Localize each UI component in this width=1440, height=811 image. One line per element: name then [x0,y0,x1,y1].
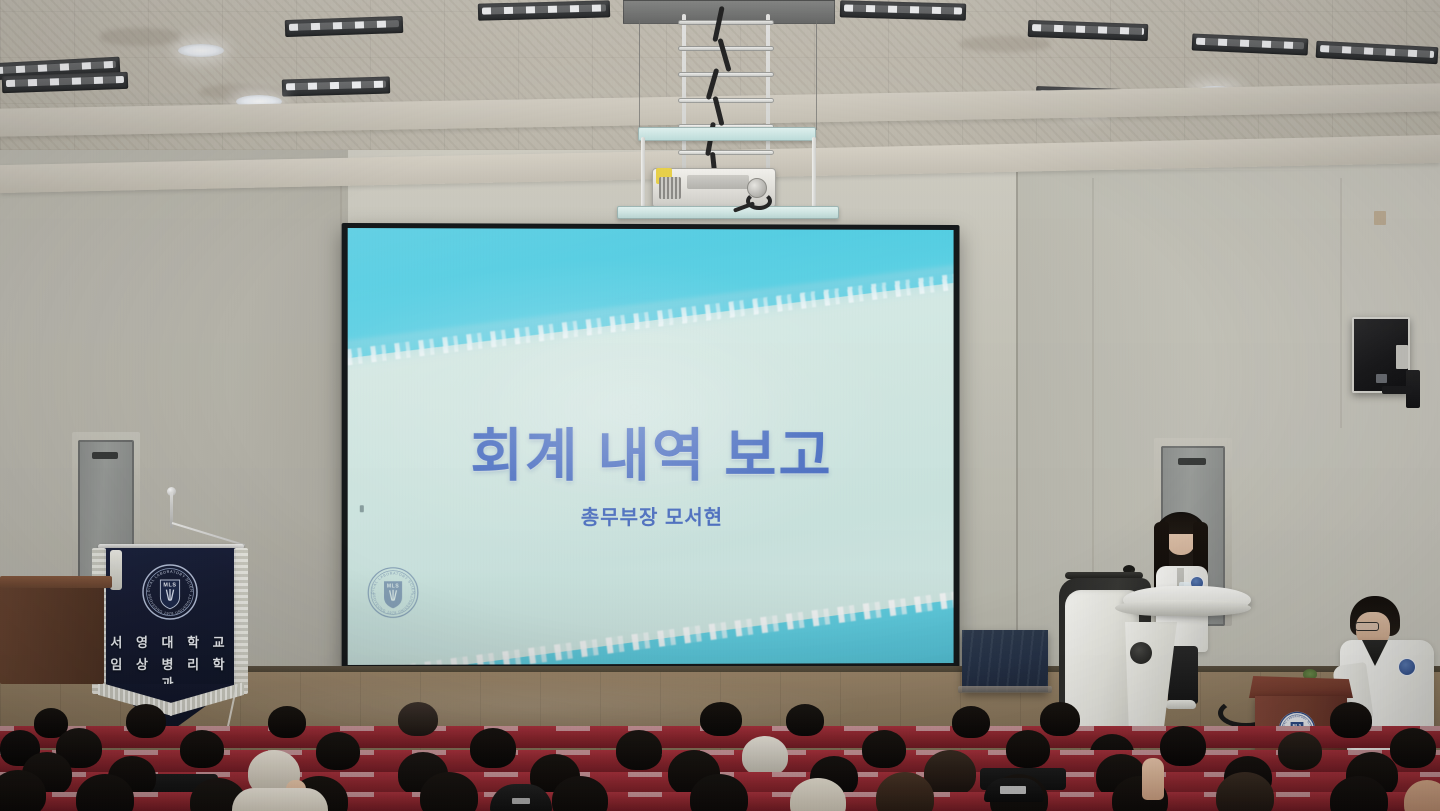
slide: 회계 내역 보고 총무부장 모서현 MEDICAL LABORATORY SCI… [348,228,954,665]
projector-upper-shelf [638,127,816,141]
rig-hanger-wire [639,20,640,130]
left-wooden-furniture [0,584,104,684]
pennant-body: MEDICAL LABORATORY SCIENCE SEOYEONG 1978… [104,548,236,684]
projector-cable-loop [746,192,772,210]
pennant-fringe-right [234,548,248,694]
audience-head [742,736,788,776]
svg-text:MLS: MLS [387,583,399,589]
glasses-icon [1355,622,1379,631]
audience-head [126,704,166,738]
audience-head [1040,702,1080,736]
audience-head [786,704,824,736]
projection-screen: 회계 내역 보고 총무부장 모서현 MEDICAL LABORATORY SCI… [342,223,960,673]
audience-head [862,730,906,768]
audience-head [952,706,990,738]
audience-head [700,702,742,736]
audience-head [1160,726,1206,766]
ceiling-strip-light [840,0,966,20]
right-door-closer [1178,458,1206,465]
shelf-post [812,137,816,207]
projector-vent [659,177,681,199]
speaker-arm [1382,386,1412,394]
lectern-desktop-edge [1115,600,1251,616]
slide-accent-band-bottom [348,587,954,665]
audience-head [268,706,306,738]
ceiling-patch [100,28,180,46]
left-furniture-top [0,576,112,588]
auditorium-scene: 회계 내역 보고 총무부장 모서현 MEDICAL LABORATORY SCI… [0,0,1440,811]
pennant-line-1: 서 영 대 학 교 [104,632,236,651]
lectern-port [1130,642,1152,664]
shelf-post [641,137,645,207]
audience-head [616,730,662,770]
audience-head [316,732,360,770]
audience-cap-logo [512,798,530,804]
rig-hanger-wire [816,20,817,130]
speaker-driver-icon [1376,374,1387,383]
audience-head [470,728,516,768]
screen-mark [360,505,364,512]
svg-text:MLS: MLS [163,583,176,589]
ceiling-downlight [178,44,224,57]
pennant-university-emblem: MEDICAL LABORATORY SCIENCE SEOYEONG 1978… [140,562,200,622]
audience-area [0,700,1440,811]
projector-panel [687,175,749,189]
audience-jacket [232,788,328,811]
audience-head [1390,728,1436,768]
audience-head [180,730,224,768]
assistant-emblem-patch [1398,658,1416,676]
audience-head [1006,730,1050,768]
left-door-closer [92,452,118,459]
audience-head [1330,702,1372,738]
draped-table-base [958,686,1052,693]
audience-cap-logo [1000,786,1026,794]
ceiling-strip-light [282,76,390,96]
pennant-cord [172,522,245,546]
draped-table [962,630,1048,692]
slide-university-emblem: MEDICAL LABORATORY SCIENCE SEOYEONG 1978… [365,564,421,620]
raised-hand [1142,758,1164,800]
speaker-mount-plate [1396,345,1408,369]
wall-seam [1340,178,1342,428]
wall-marker [1374,211,1386,225]
slide-title: 회계 내역 보고 [348,410,954,492]
audience-head [398,702,438,736]
wall-seam [1016,172,1018,672]
screen-surface: 회계 내역 보고 총무부장 모서현 MEDICAL LABORATORY SCI… [348,228,954,665]
podium-plant [1303,669,1317,679]
podium-top [1249,676,1353,698]
slide-subtitle: 총무부장 모서현 [348,501,954,531]
audience-head [1278,732,1322,770]
projector-lower-shelf [617,206,839,219]
ceiling-strip-light [478,0,610,20]
ceiling-patch [960,36,1050,52]
